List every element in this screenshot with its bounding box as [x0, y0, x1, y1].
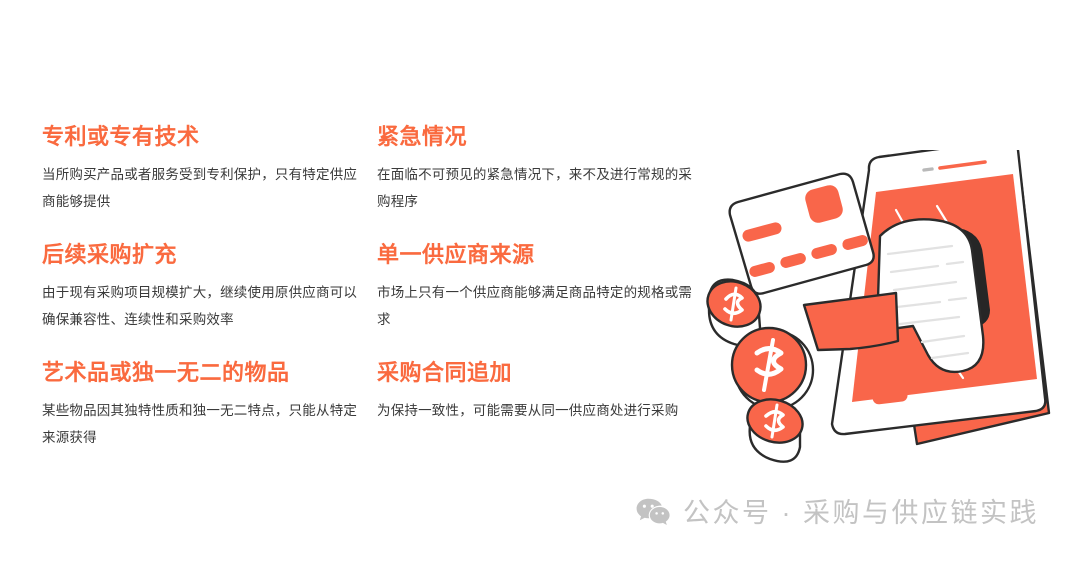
watermark-text: 公众号 · 采购与供应链实践	[683, 500, 1039, 527]
wechat-icon	[636, 498, 670, 528]
phone-home-button	[871, 379, 908, 405]
reason-block-5-body: 某些物品因其独特性质和独一无二特点，只能从特定来源获得	[42, 397, 360, 451]
reason-blocks-grid: 专利或专有技术 当所购买产品或者服务受到专利保护，只有特定供应商能够提供 紧急情…	[42, 124, 702, 478]
reason-block-2-title: 紧急情况	[377, 124, 697, 150]
reason-block-4: 单一供应商来源 市场上只有一个供应商能够满足商品特定的规格或需求	[377, 242, 697, 360]
reason-block-3: 后续采购扩充 由于现有采购项目规模扩大，继续使用原供应商可以确保兼容性、连续性和…	[42, 242, 362, 360]
reason-block-2: 紧急情况 在面临不可预见的紧急情况下，来不及进行常规的采购程序	[377, 124, 697, 242]
coin-dollar-middle	[732, 328, 813, 409]
reason-block-4-title: 单一供应商来源	[377, 242, 697, 268]
credit-card	[730, 174, 874, 294]
reason-block-1-title: 专利或专有技术	[42, 124, 362, 150]
reason-block-6-body: 为保持一致性，可能需要从同一供应商处进行采购	[377, 397, 695, 424]
reason-block-5: 艺术品或独一无二的物品 某些物品因其独特性质和独一无二特点，只能从特定来源获得	[42, 360, 362, 478]
reason-block-3-body: 由于现有采购项目规模扩大，继续使用原供应商可以确保兼容性、连续性和采购效率	[42, 279, 360, 333]
reason-block-3-title: 后续采购扩充	[42, 242, 362, 268]
reason-block-6-title: 采购合同追加	[377, 360, 697, 386]
slide-root: 专利或专有技术 当所购买产品或者服务受到专利保护，只有特定供应商能够提供 紧急情…	[0, 0, 1080, 565]
reason-block-6: 采购合同追加 为保持一致性，可能需要从同一供应商处进行采购	[377, 360, 697, 478]
watermark: 公众号 · 采购与供应链实践	[636, 498, 1039, 528]
reason-block-5-title: 艺术品或独一无二的物品	[42, 360, 362, 386]
reason-block-4-body: 市场上只有一个供应商能够满足商品特定的规格或需求	[377, 279, 695, 333]
wallet-flap	[804, 293, 898, 350]
mobile-payment-illustration	[700, 150, 1060, 495]
reason-block-2-body: 在面临不可预见的紧急情况下，来不及进行常规的采购程序	[377, 161, 695, 215]
reason-block-1-body: 当所购买产品或者服务受到专利保护，只有特定供应商能够提供	[42, 161, 360, 215]
reason-block-1: 专利或专有技术 当所购买产品或者服务受到专利保护，只有特定供应商能够提供	[42, 124, 362, 242]
